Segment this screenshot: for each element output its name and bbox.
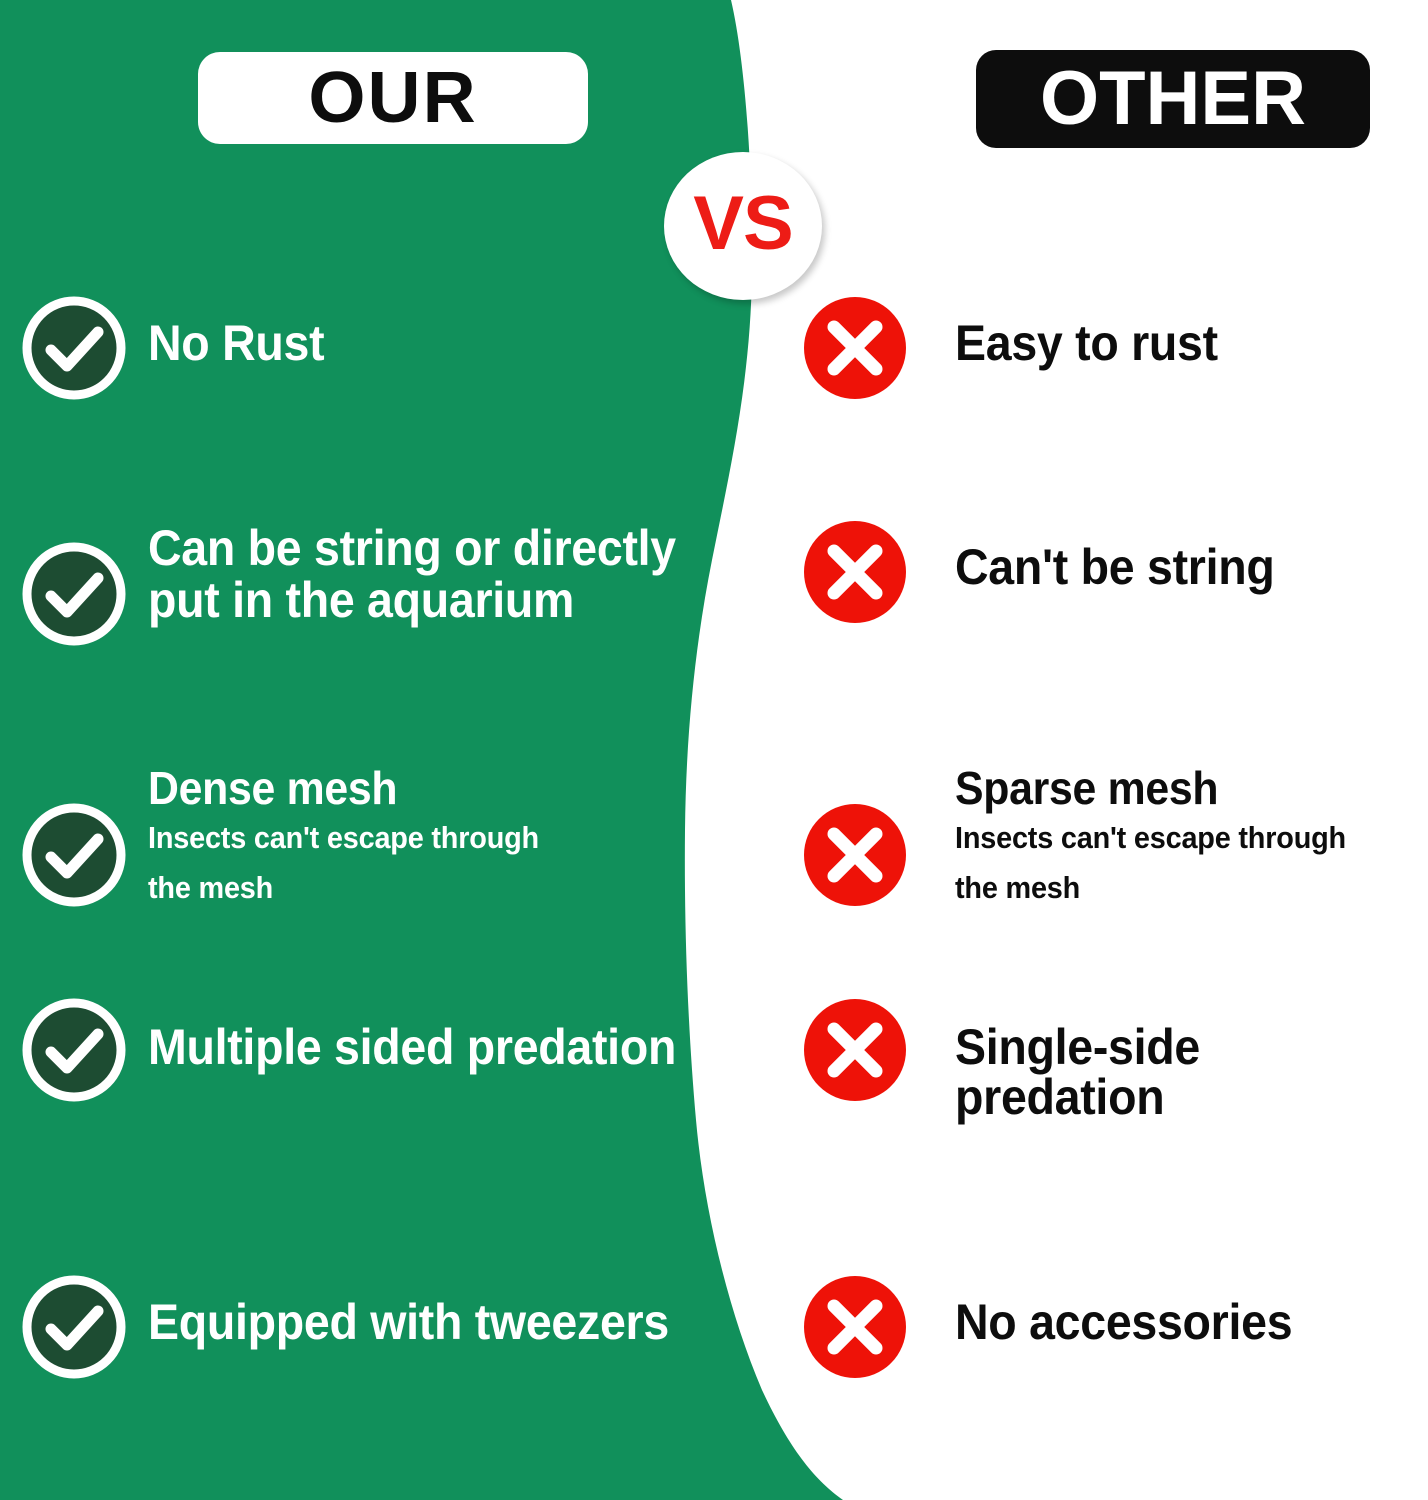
ours-row-0: No Rust [22,296,722,400]
ours-row-2-texts: Dense mesh Insects can't escape through … [126,765,742,913]
x-circle-icon [803,520,907,624]
other-row-3: Single-side predation [803,998,1428,1122]
ours-row-1-title: Can be string or directly put in the aqu… [148,522,700,626]
other-badge-label: OTHER [1040,61,1306,137]
comparison-infographic: OUR OTHER VS No Rust Can be string or di… [0,0,1428,1500]
ours-row-1: Can be string or directly put in the aqu… [22,518,742,646]
ours-row-0-texts: No Rust [126,296,722,368]
ours-row-2-subtitle: Insects can't escape through the mesh [148,813,700,913]
other-row-2-title: Sparse mesh [955,765,1395,811]
our-badge: OUR [198,52,588,144]
check-circle-icon [22,542,126,646]
other-row-4-title: No accessories [955,1297,1381,1347]
ours-row-3-title: Multiple sided predation [148,1022,682,1072]
other-row-0: Easy to rust [803,296,1413,400]
other-row-3-title: Single-side predation [955,1022,1395,1122]
ours-row-4-title: Equipped with tweezers [148,1297,682,1347]
other-row-3-texts: Single-side predation [907,998,1428,1122]
other-row-2: Sparse mesh Insects can't escape through… [803,765,1428,913]
check-circle-icon [22,1275,126,1379]
ours-row-2: Dense mesh Insects can't escape through … [22,765,742,913]
ours-row-4: Equipped with tweezers [22,1275,722,1379]
x-circle-icon [803,803,907,907]
x-circle-icon [803,998,907,1102]
other-row-1-texts: Can't be string [907,520,1413,592]
vs-circle: VS [664,152,822,300]
ours-row-1-texts: Can be string or directly put in the aqu… [126,518,742,626]
other-row-2-subtitle: Insects can't escape through the mesh [955,813,1395,913]
our-badge-label: OUR [308,62,477,134]
x-circle-icon [803,1275,907,1379]
check-circle-icon [22,803,126,907]
other-row-1: Can't be string [803,520,1413,624]
ours-row-3: Multiple sided predation [22,998,722,1102]
ours-row-2-title: Dense mesh [148,765,700,811]
other-row-2-texts: Sparse mesh Insects can't escape through… [907,765,1428,913]
ours-row-3-texts: Multiple sided predation [126,998,722,1072]
ours-row-0-title: No Rust [148,318,682,368]
vs-label: VS [693,186,792,262]
other-row-1-title: Can't be string [955,542,1381,592]
other-row-0-title: Easy to rust [955,318,1381,368]
check-circle-icon [22,998,126,1102]
check-circle-icon [22,296,126,400]
ours-row-4-texts: Equipped with tweezers [126,1275,722,1347]
other-row-4-texts: No accessories [907,1275,1413,1347]
other-row-0-texts: Easy to rust [907,296,1413,368]
x-circle-icon [803,296,907,400]
other-badge: OTHER [976,50,1370,148]
other-row-4: No accessories [803,1275,1413,1379]
